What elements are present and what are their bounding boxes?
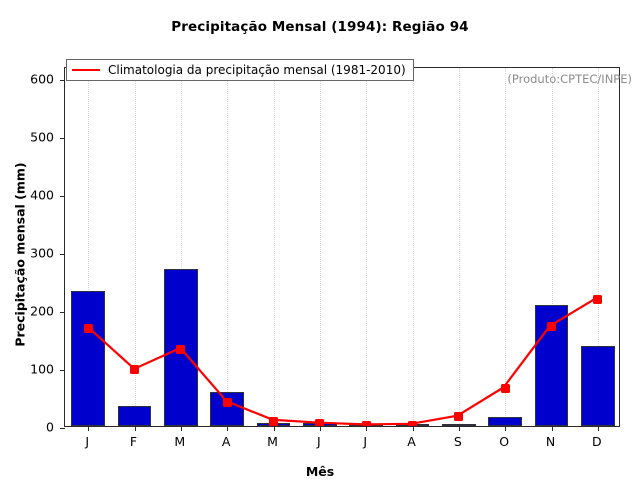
chart-legend: Climatologia da precipitação mensal (198… <box>66 59 414 81</box>
marker-a-3 <box>223 398 232 407</box>
x-tick-0 <box>88 426 89 431</box>
marker-s-8 <box>454 412 463 421</box>
x-tick-label-7: A <box>407 434 416 449</box>
legend-line-swatch <box>72 69 100 71</box>
plot-area <box>64 67 620 427</box>
x-tick-8 <box>459 426 460 431</box>
x-tick-label-4: M <box>267 434 278 449</box>
y-tick-label-600: 600 <box>0 71 54 86</box>
x-tick-label-8: S <box>454 434 462 449</box>
x-tick-label-5: J <box>317 434 321 449</box>
marker-j-0 <box>84 324 93 333</box>
x-tick-2 <box>181 426 182 431</box>
x-tick-label-0: J <box>85 434 89 449</box>
marker-d-11 <box>593 295 602 304</box>
y-axis-title: Precipitação mensal (mm) <box>13 130 28 380</box>
y-tick-400 <box>60 196 65 197</box>
plot-inner <box>65 68 619 426</box>
x-tick-10 <box>552 426 553 431</box>
producer-annotation: (Produto:CPTEC/INPE) <box>507 72 632 86</box>
x-axis-title: Mês <box>0 464 640 479</box>
y-tick-600 <box>60 80 65 81</box>
x-tick-label-10: N <box>546 434 555 449</box>
y-tick-200 <box>60 312 65 313</box>
x-tick-label-11: D <box>592 434 602 449</box>
y-tick-0 <box>60 428 65 429</box>
x-tick-4 <box>274 426 275 431</box>
y-tick-300 <box>60 254 65 255</box>
x-tick-11 <box>598 426 599 431</box>
x-tick-1 <box>135 426 136 431</box>
x-tick-label-9: O <box>499 434 509 449</box>
marker-m-2 <box>176 345 185 354</box>
chart-figure: Precipitação Mensal (1994): Região 94 01… <box>0 0 640 500</box>
marker-o-9 <box>501 384 510 393</box>
climatology-line <box>65 68 619 426</box>
x-tick-5 <box>320 426 321 431</box>
chart-title: Precipitação Mensal (1994): Região 94 <box>0 19 640 35</box>
x-tick-label-2: M <box>174 434 185 449</box>
marker-m-4 <box>269 417 278 426</box>
marker-j-5 <box>315 419 324 426</box>
x-tick-6 <box>366 426 367 431</box>
x-tick-3 <box>227 426 228 431</box>
marker-f-1 <box>130 365 139 374</box>
x-tick-label-6: J <box>363 434 367 449</box>
x-tick-label-3: A <box>222 434 231 449</box>
x-tick-7 <box>413 426 414 431</box>
y-tick-500 <box>60 138 65 139</box>
x-tick-label-1: F <box>130 434 137 449</box>
marker-n-10 <box>547 322 556 331</box>
y-tick-label-0: 0 <box>0 420 54 435</box>
y-tick-100 <box>60 370 65 371</box>
x-tick-9 <box>505 426 506 431</box>
legend-entry-climatology: Climatologia da precipitação mensal (198… <box>108 63 406 77</box>
